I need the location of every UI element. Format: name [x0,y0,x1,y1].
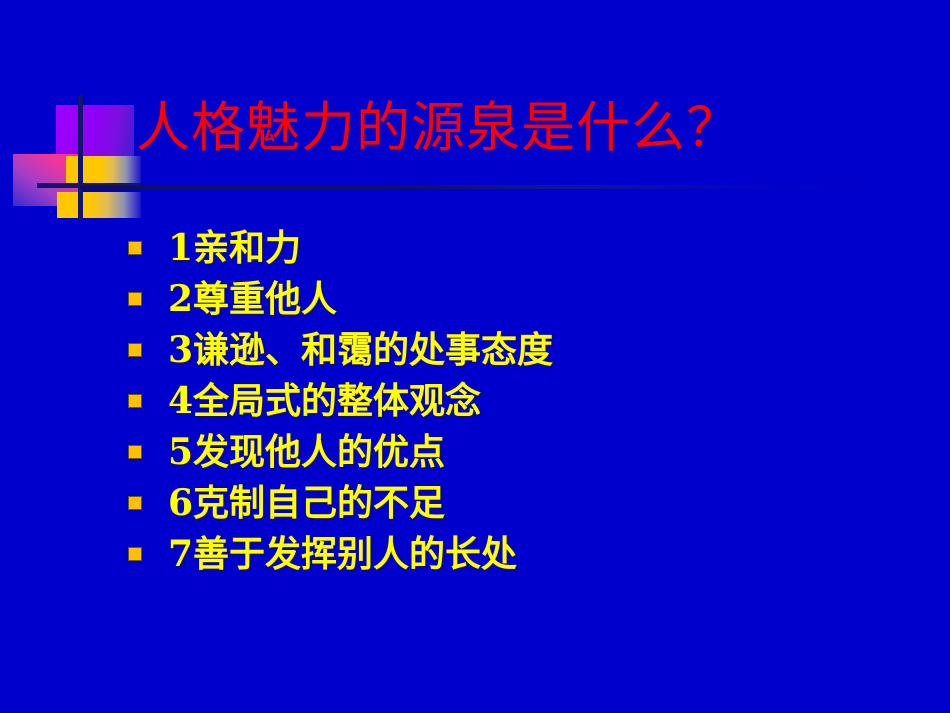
bullet-square-icon [128,292,142,306]
decorative-logo-graphic [10,95,145,220]
bullet-square-icon [128,496,142,510]
decor-yellow-square-bottom [57,192,141,218]
presentation-slide: 人格魅力的源泉是什么？ 1亲和力 2尊重他人 3谦逊、和霭的处事态度 4全局式的… [0,0,950,713]
list-item: 5发现他人的优点 [128,426,928,477]
bullet-list: 1亲和力 2尊重他人 3谦逊、和霭的处事态度 4全局式的整体观念 5发现他人的优… [128,222,928,579]
bullet-square-icon [128,445,142,459]
bullet-square-icon [128,241,142,255]
slide-title: 人格魅力的源泉是什么？ [136,97,741,159]
list-item-label: 6克制自己的不足 [168,482,445,524]
list-item-label: 5发现他人的优点 [168,431,445,473]
list-item: 2尊重他人 [128,273,928,324]
list-item-label: 7善于发挥别人的长处 [168,533,517,575]
list-item: 4全局式的整体观念 [128,375,928,426]
bullet-square-icon [128,394,142,408]
list-item: 6克制自己的不足 [128,477,928,528]
bullet-square-icon [128,547,142,561]
decor-vertical-line [78,95,83,220]
list-item: 3谦逊、和霭的处事态度 [128,324,928,375]
list-item-label: 1亲和力 [168,227,301,269]
title-divider [80,185,870,189]
list-item-label: 2尊重他人 [168,278,337,320]
bullet-square-icon [128,343,142,357]
list-item-label: 3谦逊、和霭的处事态度 [168,329,553,371]
list-item-label: 4全局式的整体观念 [168,380,481,422]
list-item: 7善于发挥别人的长处 [128,528,928,579]
list-item: 1亲和力 [128,222,928,273]
